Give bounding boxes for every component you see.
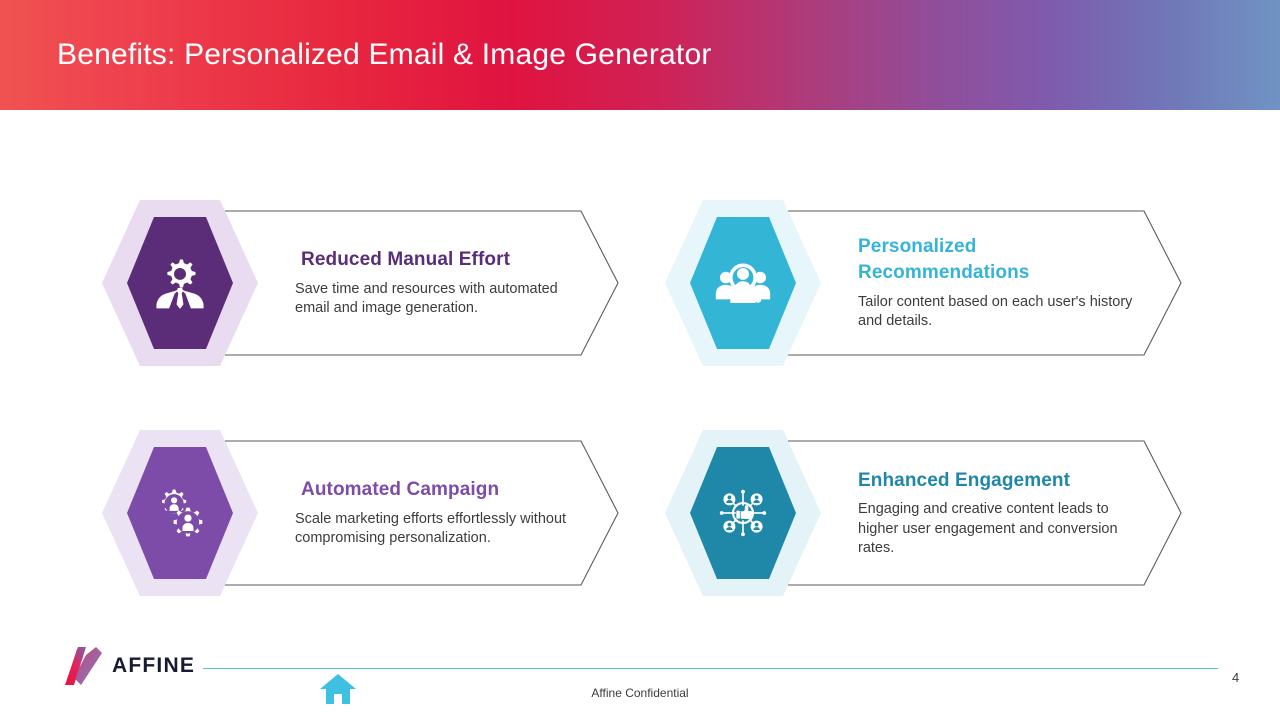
- card-text: Automated Campaign Scale marketing effor…: [295, 428, 595, 598]
- benefit-card[interactable]: Automated Campaign Scale marketing effor…: [100, 428, 620, 598]
- benefit-card[interactable]: Personalized Recommendations Tailor cont…: [663, 198, 1183, 368]
- person-with-gear-head-icon: [126, 216, 234, 350]
- magnifier-over-people-icon: [689, 216, 797, 350]
- card-description: Scale marketing efforts effortlessly wit…: [295, 510, 595, 549]
- card-text: Personalized Recommendations Tailor cont…: [858, 198, 1148, 368]
- card-description: Save time and resources with automated e…: [295, 280, 595, 319]
- gears-with-people-icon: [126, 446, 234, 580]
- footer-divider: [203, 668, 1218, 669]
- card-description: Engaging and creative content leads to h…: [858, 500, 1148, 558]
- affine-logo: AFFINE: [63, 645, 195, 687]
- card-title: Personalized Recommendations: [858, 234, 1148, 285]
- benefit-card[interactable]: Reduced Manual Effort Save time and reso…: [100, 198, 620, 368]
- benefit-card[interactable]: Enhanced Engagement Engaging and creativ…: [663, 428, 1183, 598]
- thumbs-up-network-icon: [689, 446, 797, 580]
- page-title: Benefits: Personalized Email & Image Gen…: [57, 38, 712, 72]
- confidential-label: Affine Confidential: [0, 686, 1280, 700]
- card-title: Enhanced Engagement: [858, 468, 1148, 494]
- affine-logo-text: AFFINE: [112, 654, 195, 678]
- card-text: Enhanced Engagement Engaging and creativ…: [858, 428, 1148, 598]
- card-text: Reduced Manual Effort Save time and reso…: [295, 198, 595, 368]
- card-description: Tailor content based on each user's hist…: [858, 293, 1148, 332]
- card-title: Automated Campaign: [295, 477, 595, 503]
- affine-logo-mark: [63, 645, 103, 687]
- card-title: Reduced Manual Effort: [295, 247, 595, 273]
- page-number: 4: [1232, 670, 1239, 685]
